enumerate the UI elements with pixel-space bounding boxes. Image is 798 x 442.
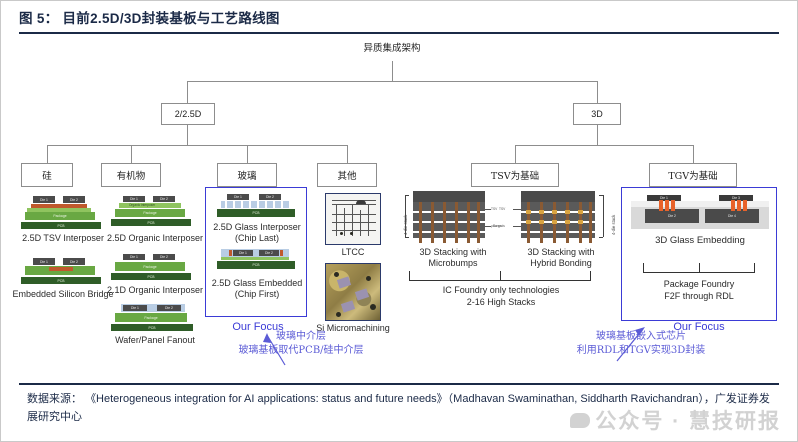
die-label: Die 2 bbox=[153, 196, 175, 202]
caption-2-5d-glass-interposer-line1: 2.5D Glass Interposer bbox=[207, 222, 307, 233]
caption-ltcc: LTCC bbox=[319, 247, 387, 258]
right-annotation-line2: 利用RDL和TGV实现3D封装 bbox=[531, 344, 751, 358]
tsv-brace-stem bbox=[500, 271, 501, 281]
die-label: Die 2 bbox=[259, 250, 279, 256]
connector-3d-stem bbox=[597, 125, 598, 145]
illu-3d-stacking-microbumps: TSV μbump bbox=[413, 191, 491, 243]
bracket-tick bbox=[405, 237, 409, 238]
cu-pads-small-label: Cu pads bbox=[493, 224, 505, 228]
illu-embedded-silicon-bridge: Die 1 Die 2 PCB bbox=[19, 257, 107, 287]
connector-to-tgv bbox=[693, 145, 694, 163]
die-label: Die 2 bbox=[63, 196, 85, 203]
illu-2-5d-tsv-interposer: Die 1 Die 2 Package PCB bbox=[19, 195, 107, 231]
pcb-label: PCB bbox=[21, 277, 101, 284]
tgv-brace-stem bbox=[699, 263, 700, 273]
tsv-note-line2: 2-16 High Stacks bbox=[415, 297, 587, 308]
die-label: Die 2 bbox=[157, 305, 181, 311]
die-label: Die 2 bbox=[259, 194, 281, 200]
tgv-note-line1: Package Foundry bbox=[643, 279, 755, 290]
die-label: Die 1 bbox=[33, 258, 55, 265]
pcb-label: PCB bbox=[111, 219, 191, 226]
illu-2-5d-glass-embedded: Die 1 Die 2 PCB bbox=[213, 248, 301, 276]
four-die-stack-label-left: 4-die stack bbox=[403, 215, 408, 235]
right-annotation-line1: 玻璃基板嵌入式芯片 bbox=[541, 330, 741, 344]
die-label: Die 2 bbox=[645, 209, 699, 223]
illu-2-5d-organic-interposer: Die 1 Die 2 Organic interposer Package P… bbox=[107, 195, 199, 231]
caption-2-5d-organic-interposer: 2.5D Organic Interposer bbox=[97, 233, 213, 244]
four-die-stack-label-right: 4-die stack bbox=[611, 215, 616, 235]
connector-to-3d bbox=[597, 81, 598, 103]
footer-divider bbox=[19, 383, 779, 385]
illu-ltcc bbox=[325, 193, 381, 245]
caption-3d-stacking-microbumps-line2: Microbumps bbox=[407, 258, 499, 269]
tree-node-silicon[interactable]: 硅 bbox=[21, 163, 73, 187]
caption-2-5d-glass-interposer-line2: (Chip Last) bbox=[207, 233, 307, 244]
die-label: Die 2 bbox=[63, 258, 85, 265]
caption-2-5d-glass-embedded-line2: (Chip First) bbox=[207, 289, 307, 300]
bracket-tick bbox=[599, 195, 603, 196]
caption-3d-stacking-hybrid-bonding-line2: Hybrid Bonding bbox=[515, 258, 607, 269]
bracket-tick bbox=[405, 195, 409, 196]
die-label: Die 1 bbox=[123, 254, 145, 260]
die-label: Die 1 bbox=[33, 196, 55, 203]
tree-node-2-2-5d[interactable]: 2/2.5D bbox=[161, 103, 215, 125]
figure-header: 图 5： 目前2.5D/3D封装基板与工艺路线图 bbox=[19, 7, 779, 34]
illu-si-micromachining bbox=[325, 263, 381, 321]
caption-2-5d-glass-embedded-line1: 2.5D Glass Embedded bbox=[207, 278, 307, 289]
die-label: Die 1 bbox=[227, 194, 249, 200]
tsv-note-line1: IC Foundry only technologies bbox=[415, 285, 587, 296]
pcb-label: PCB bbox=[217, 261, 295, 269]
tsv-small-label: TSV bbox=[499, 207, 505, 211]
connector-right-bus bbox=[515, 145, 693, 146]
figure-page: 图 5： 目前2.5D/3D封装基板与工艺路线图 异质集成架构 2/2.5D 3… bbox=[0, 0, 798, 442]
title-divider bbox=[19, 32, 779, 34]
connector-root-stem bbox=[392, 61, 393, 81]
pcb-label: PCB bbox=[111, 273, 191, 280]
connector-to-other bbox=[347, 145, 348, 163]
die-label: Die 4 bbox=[705, 209, 759, 223]
tree-node-glass[interactable]: 玻璃 bbox=[217, 163, 277, 187]
tgv-note-line2: F2F through RDL bbox=[643, 291, 755, 302]
die-label: Die 1 bbox=[233, 250, 253, 256]
four-die-bracket-right bbox=[603, 195, 604, 237]
die-label: Die 1 bbox=[123, 196, 145, 202]
connector-to-2d bbox=[187, 81, 188, 103]
left-annotation-line2: 玻璃基板取代PCB/硅中介层 bbox=[181, 344, 421, 358]
caption-3d-glass-embedding: 3D Glass Embedding bbox=[631, 235, 769, 247]
package-label: Package bbox=[25, 212, 95, 220]
pcb-label: PCB bbox=[111, 324, 193, 331]
tree-node-tgv-based[interactable]: TGV为基础 bbox=[649, 163, 737, 187]
left-annotation-line1: 玻璃中介层 bbox=[201, 330, 401, 344]
package-label: Package bbox=[115, 209, 185, 217]
caption-3d-stacking-hybrid-bonding-line1: 3D Stacking with bbox=[515, 247, 607, 258]
source-prefix: 数据来源： bbox=[27, 392, 82, 405]
package-label: Package bbox=[115, 262, 185, 271]
connector-level1-bus bbox=[187, 81, 597, 82]
caption-2-1d-organic-interposer: 2.1D Organic Interposer bbox=[97, 285, 213, 296]
pcb-label: PCB bbox=[217, 209, 295, 217]
tree-node-other[interactable]: 其他 bbox=[317, 163, 377, 187]
caption-3d-stacking-microbumps-line1: 3D Stacking with bbox=[407, 247, 499, 258]
tree-node-organic[interactable]: 有机物 bbox=[101, 163, 161, 187]
illu-3d-stacking-hybrid-bonding: TSV Cu pads bbox=[521, 191, 601, 243]
illu-wafer-panel-fanout: Die 1 Die 2 Package PCB bbox=[107, 303, 199, 333]
connector-left-bus bbox=[47, 145, 347, 146]
diagram-canvas: 异质集成架构 2/2.5D 3D 硅 有机物 玻璃 其他 TSV为基础 TGV为… bbox=[1, 35, 798, 383]
connector-2d-stem bbox=[187, 125, 188, 145]
illu-2-5d-glass-interposer: Die 1 Die 2 PCB bbox=[213, 193, 301, 223]
die-label: Die 2 bbox=[153, 254, 175, 260]
die-label: Die 1 bbox=[123, 305, 147, 311]
organic-interposer-label: Organic interposer bbox=[129, 203, 155, 207]
illu-3d-glass-embedding: Die 1 Die 3 Die 2 Die 4 bbox=[631, 195, 769, 229]
connector-to-tsv bbox=[515, 145, 516, 163]
page-title: 图 5： 目前2.5D/3D封装基板与工艺路线图 bbox=[19, 7, 779, 27]
connector-to-organic bbox=[131, 145, 132, 163]
figure-source: 数据来源： 《Heterogeneous integration for AI … bbox=[27, 390, 779, 426]
source-text: 《Heterogeneous integration for AI applic… bbox=[27, 393, 770, 423]
bracket-tick bbox=[599, 237, 603, 238]
package-label: Package bbox=[115, 313, 187, 322]
connector-to-glass bbox=[247, 145, 248, 163]
connector-to-silicon bbox=[47, 145, 48, 163]
tsv-small-label: TSV bbox=[491, 207, 497, 211]
illu-2-1d-organic-interposer: Die 1 Die 2 Package PCB bbox=[107, 253, 199, 283]
pcb-label: PCB bbox=[21, 222, 101, 229]
tree-node-3d[interactable]: 3D bbox=[573, 103, 621, 125]
tree-node-tsv-based[interactable]: TSV为基础 bbox=[471, 163, 559, 187]
